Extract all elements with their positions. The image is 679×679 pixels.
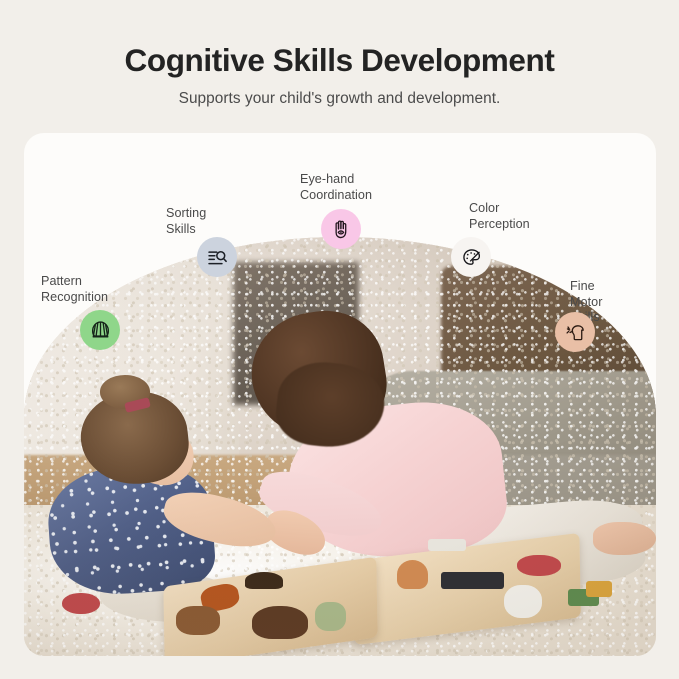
skill-label-eye-hand-coordination: Eye-hand Coordination bbox=[300, 172, 372, 203]
puzzle-piece bbox=[428, 539, 466, 552]
skill-badge-color-perception[interactable] bbox=[451, 237, 491, 277]
puzzle-piece bbox=[245, 572, 283, 589]
shell-icon bbox=[89, 319, 112, 342]
puzzle-piece bbox=[586, 581, 611, 598]
photo-scene bbox=[24, 237, 656, 656]
puzzle-piece bbox=[252, 606, 309, 640]
puzzle-piece bbox=[62, 593, 100, 614]
puzzle-piece bbox=[397, 560, 429, 589]
page-subtitle: Supports your child's growth and develop… bbox=[0, 90, 679, 108]
puzzle-piece bbox=[176, 606, 220, 635]
puzzle-piece bbox=[315, 602, 347, 631]
infographic-page: Cognitive Skills Development Supports yo… bbox=[0, 0, 679, 679]
header: Cognitive Skills Development Supports yo… bbox=[0, 0, 679, 108]
skill-label-color-perception: Color Perception bbox=[469, 201, 530, 232]
skill-label-sorting-skills: Sorting Skills bbox=[166, 206, 206, 237]
skill-badge-fine-motor-skills[interactable] bbox=[555, 312, 595, 352]
puzzle-piece bbox=[504, 585, 542, 619]
sort-search-icon bbox=[206, 246, 229, 269]
skill-badge-sorting-skills[interactable] bbox=[197, 237, 237, 277]
page-title: Cognitive Skills Development bbox=[0, 42, 679, 78]
puzzle-piece bbox=[441, 572, 504, 589]
pinch-hand-icon bbox=[564, 321, 587, 344]
product-lifestyle-photo bbox=[24, 237, 656, 656]
hand-eye-icon bbox=[330, 218, 353, 241]
skill-badge-pattern-recognition[interactable] bbox=[80, 310, 120, 350]
puzzle-piece bbox=[517, 555, 561, 576]
skill-label-pattern-recognition: Pattern Recognition bbox=[41, 274, 108, 305]
skill-badge-eye-hand-coordination[interactable] bbox=[321, 209, 361, 249]
paint-palette-icon bbox=[460, 246, 483, 269]
